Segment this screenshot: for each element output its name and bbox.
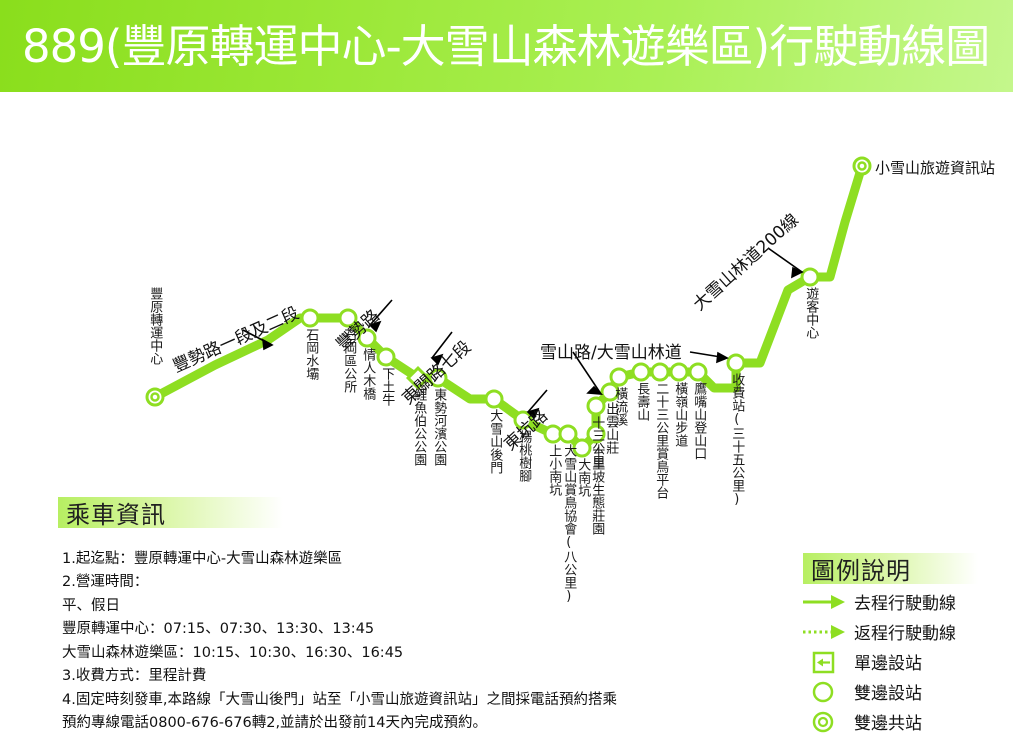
station-label: 東勢河濱公園	[432, 388, 445, 466]
station-label: 遊客中心	[804, 287, 817, 339]
station-node[interactable]	[545, 426, 561, 442]
legend-item: 雙邊設站	[800, 678, 1020, 705]
legend-symbol	[800, 680, 848, 704]
road-label: 豐勢路一段及二段	[168, 299, 302, 377]
page-header: 889(豐原轉運中心-大雪山森林遊樂區)行駛動線圖	[0, 0, 1013, 92]
legend-item: 去程行駛動線	[800, 588, 1020, 615]
legend-label: 去程行駛動線	[854, 589, 956, 614]
page-title: 889(豐原轉運中心-大雪山森林遊樂區)行駛動線圖	[22, 24, 989, 69]
station-label: 鷹嘴山登山口	[692, 382, 705, 460]
station-node[interactable]	[378, 349, 394, 365]
station-label: 石岡水壩	[304, 328, 317, 380]
station-label: 下土牛	[380, 367, 393, 406]
road-label: 雪山路/大雪山林道	[540, 338, 682, 363]
station-label: 長壽山	[635, 382, 648, 421]
legend-label: 單邊設站	[854, 649, 922, 674]
station-label: 情人木橋	[361, 348, 374, 400]
info-line: 4.固定時刻發車,本路線「大雪山後門」站至「小雪山旅遊資訊站」之間採電話預約搭乘	[62, 689, 702, 712]
legend-heading: 圖例說明	[803, 553, 978, 584]
station-node[interactable]	[854, 158, 870, 174]
legend-symbol	[800, 620, 848, 644]
station-node[interactable]	[560, 426, 576, 442]
station-label: 小雪山旅遊資訊站	[875, 157, 995, 178]
station-node[interactable]	[728, 355, 744, 371]
station-node[interactable]	[671, 364, 687, 380]
legend-label: 雙邊設站	[854, 679, 922, 704]
road-label: 豐勢路	[329, 302, 384, 355]
station-node[interactable]	[588, 398, 604, 414]
legend-heading-text: 圖例說明	[811, 551, 911, 586]
road-label: 大雪山林道200線	[686, 206, 803, 315]
legend-label: 雙邊共站	[854, 709, 922, 734]
info-panel-heading: 乘車資訊	[58, 497, 283, 528]
station-label: 大雪山後門	[488, 409, 501, 474]
info-line: 1.起迄點：豐原轉運中心-大雪山森林遊樂區	[62, 548, 702, 571]
legend-item: 返程行駛動線	[800, 618, 1020, 645]
station-label: 豐原轉運中心	[148, 287, 161, 365]
station-label: 十三公里	[590, 416, 603, 468]
single-side-stop-icon	[801, 650, 847, 674]
dashed-arrow-icon	[801, 620, 847, 644]
legend-item: 雙邊共站	[800, 708, 1020, 735]
station-node[interactable]	[652, 364, 668, 380]
station-label: 橫流溪	[613, 387, 626, 426]
station-node[interactable]	[302, 310, 318, 326]
info-line: 3.收費方式：里程計費	[62, 665, 702, 688]
station-label: 二十三公里賞鳥平台	[654, 382, 667, 499]
station-node[interactable]	[574, 440, 590, 456]
shared-stop-icon	[801, 710, 847, 734]
legend-label: 返程行駛動線	[854, 619, 956, 644]
legend-list: 去程行駛動線返程行駛動線單邊設站雙邊設站雙邊共站	[800, 588, 1020, 738]
station-label: 上小南坑	[547, 444, 560, 496]
info-line: 豐原轉運中心：07:15、07:30、13:30、13:45	[62, 618, 702, 641]
station-node[interactable]	[690, 364, 706, 380]
info-line: 預約專線電話0800-676-676轉2,並請於出發前14天內完成預約。	[62, 712, 702, 735]
solid-arrow-icon	[801, 590, 847, 614]
station-label: 橫嶺山步道	[673, 382, 686, 447]
legend-symbol	[800, 590, 848, 614]
station-label: 收費站(三十五公里)	[730, 373, 743, 507]
info-panel-lines: 1.起迄點：豐原轉運中心-大雪山森林遊樂區2.營運時間：平、假日豐原轉運中心：0…	[62, 548, 702, 736]
info-line: 2.營運時間：	[62, 571, 702, 594]
info-panel-heading-text: 乘車資訊	[66, 495, 166, 530]
station-node[interactable]	[486, 391, 502, 407]
info-line: 大雪山森林遊樂區：10:15、10:30、16:30、16:45	[62, 642, 702, 665]
station-node[interactable]	[611, 369, 627, 385]
route-line	[155, 166, 862, 448]
legend-item: 單邊設站	[800, 648, 1020, 675]
route-map-page: 889(豐原轉運中心-大雪山森林遊樂區)行駛動線圖 豐原轉運中心石岡水壩石岡區公…	[0, 0, 1024, 736]
info-line: 平、假日	[62, 595, 702, 618]
station-node[interactable]	[147, 389, 163, 405]
double-side-stop-icon	[801, 680, 847, 704]
legend-symbol	[800, 710, 848, 734]
station-node[interactable]	[633, 364, 649, 380]
station-label: 大南坑	[576, 458, 589, 497]
station-node[interactable]	[802, 269, 818, 285]
legend-symbol	[800, 650, 848, 674]
